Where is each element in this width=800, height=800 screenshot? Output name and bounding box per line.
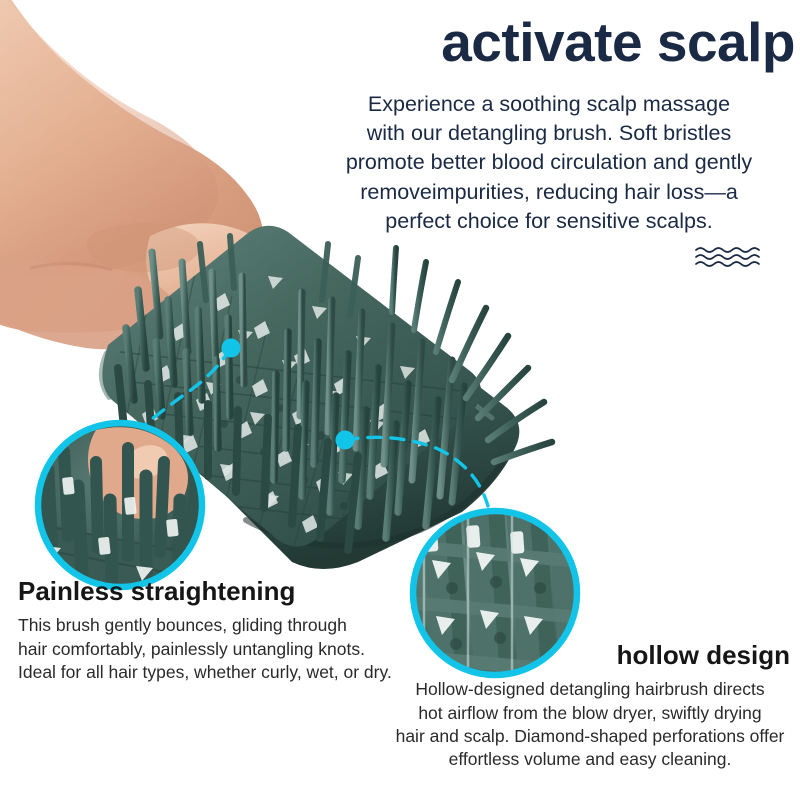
callout-hollow-closeup [336,431,489,507]
wavy-lines-ornament [694,245,766,269]
feature-line: hair and scalp. Diamond-shaped perforati… [390,725,790,748]
feature-description: This brush gently bounces, gliding throu… [18,614,398,684]
feature-title: Painless straightening [18,578,398,605]
brush-bristles [118,236,552,550]
feature-line: This brush gently bounces, gliding throu… [18,614,398,637]
infographic-canvas: activate scalp Experience a soothing sca… [0,0,800,800]
feature-line: Ideal for all hair types, whether curly,… [18,661,398,684]
feature-line: hair comfortably, painlessly untangling … [18,638,398,661]
feature-title: hollow design [390,642,790,669]
cyan-dot-marker-1 [222,339,241,358]
feature-line: hot airflow from the blow dryer, swiftly… [390,702,790,725]
hand-graphic [0,0,298,364]
hero-line: removeimpurities, reducing hair loss—a [300,178,798,207]
feature-hollow-design: hollow design Hollow-designed detangling… [390,642,790,771]
hero-line: perfect choice for sensitive scalps. [300,207,798,236]
hero-line: promote better blood circulation and gen… [300,148,798,177]
hero-line: with our detangling brush. Soft bristles [300,119,798,148]
callout-bristle-closeup [136,339,241,433]
brush-body [99,226,519,569]
feature-line: effortless volume and easy cleaning. [390,748,790,771]
feature-description: Hollow-designed detangling hairbrush dir… [390,678,790,771]
feature-painless-straightening: Painless straightening This brush gently… [18,578,398,684]
magnifier-circle-bristles [30,423,210,600]
hero-description: Experience a soothing scalp massage with… [300,90,798,236]
cyan-dot-marker-2 [336,431,355,450]
hero-title: activate scalp [355,14,795,70]
hero-line: Experience a soothing scalp massage [300,90,798,119]
feature-line: Hollow-designed detangling hairbrush dir… [390,678,790,701]
